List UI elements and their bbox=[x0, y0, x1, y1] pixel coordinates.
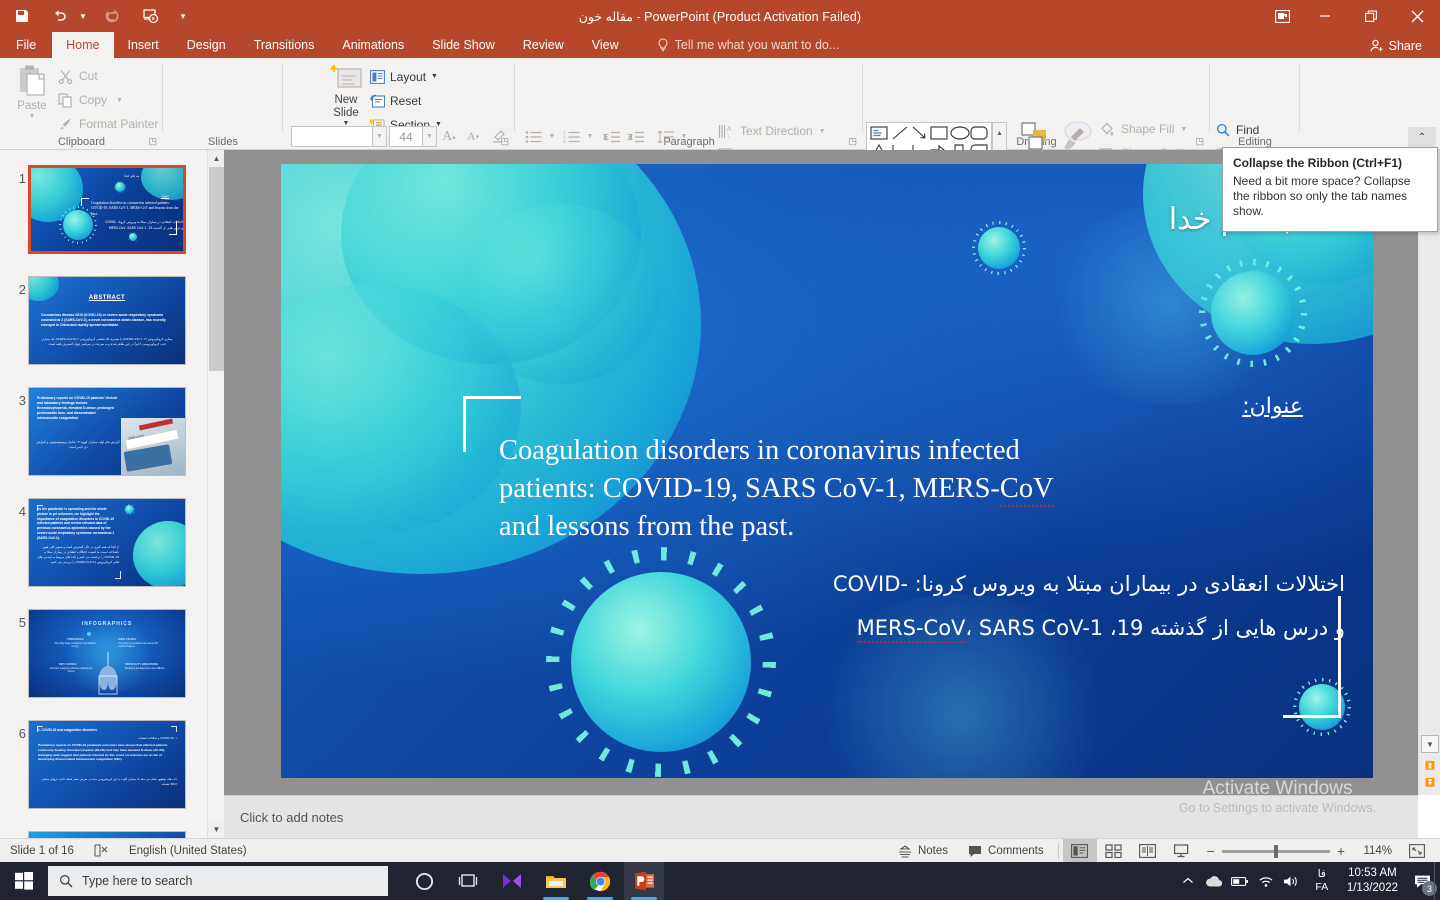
arrange-icon bbox=[1018, 120, 1052, 152]
thumbnail-slide-5[interactable]: INFOGRAPHICS TIREDNESS The body feels co… bbox=[28, 609, 186, 698]
language-code-label: FA bbox=[1305, 881, 1339, 894]
show-desktop-button[interactable] bbox=[1434, 862, 1440, 900]
restore-icon[interactable] bbox=[1348, 0, 1394, 32]
thumbnail-heading: INFOGRAPHICS bbox=[29, 621, 185, 627]
clock-time: 10:53 AM bbox=[1347, 866, 1398, 881]
list-item[interactable]: 7 bbox=[0, 831, 207, 838]
status-bar: Slide 1 of 16 English (United States) No… bbox=[0, 838, 1440, 862]
paste-label: Paste bbox=[17, 100, 46, 112]
task-view-icon[interactable] bbox=[448, 862, 488, 900]
list-item[interactable]: 1 به نام خدا عنوان: Coagulation disorder… bbox=[0, 165, 207, 265]
font-size-dropdown-icon[interactable]: ▼ bbox=[423, 126, 437, 147]
numbering-button[interactable]: 123 bbox=[560, 126, 584, 147]
cortana-icon[interactable] bbox=[404, 862, 444, 900]
volume-icon[interactable] bbox=[1279, 862, 1305, 900]
copy-label: Copy bbox=[79, 93, 107, 107]
system-tray: فا FA 10:53 AM 1/13/2022 3 bbox=[1175, 862, 1440, 900]
thumbnail-label: DIFFICULTY BREATHING bbox=[125, 662, 158, 666]
thumbnail-body: Preliminary reports on COVID-19 pandemic… bbox=[38, 743, 176, 762]
bullets-dropdown-icon[interactable]: ▼ bbox=[546, 126, 558, 147]
shape-fill-button[interactable]: Shape Fill ▼ bbox=[1099, 118, 1187, 140]
tab-review[interactable]: Review bbox=[509, 32, 578, 58]
clear-formatting-button[interactable] bbox=[488, 126, 508, 147]
paste-dropdown-icon[interactable]: ▼ bbox=[29, 113, 36, 120]
group-clipboard: Paste ▼ Cut Copy ▼ Format Pa bbox=[0, 58, 163, 150]
slide-counter[interactable]: Slide 1 of 16 bbox=[0, 839, 84, 863]
search-icon bbox=[1216, 123, 1230, 137]
list-item[interactable]: 6 1. COVID-19 and coagulation disorders … bbox=[0, 720, 207, 820]
status-bar-right: Notes Comments − bbox=[888, 839, 1440, 863]
slide-thumbnail-pane[interactable]: 1 به نام خدا عنوان: Coagulation disorder… bbox=[0, 150, 207, 838]
thumbnail-scroll-down-icon[interactable]: ▼ bbox=[208, 821, 225, 838]
svg-text:3: 3 bbox=[563, 139, 566, 144]
clipboard-group-label: Clipboard bbox=[0, 136, 163, 148]
svg-text:↕: ↕ bbox=[727, 133, 730, 139]
slide-title-farsi: اختلالات انعقادی در بیماران مبتلا به ویر… bbox=[345, 562, 1345, 650]
clock[interactable]: 10:53 AM 1/13/2022 bbox=[1339, 866, 1406, 896]
language-indicator[interactable]: English (United States) bbox=[119, 839, 257, 863]
tab-home[interactable]: Home bbox=[52, 32, 113, 58]
find-button[interactable]: Find bbox=[1216, 119, 1259, 141]
ribbon-tab-bar: File Home Insert Design Transitions Anim… bbox=[0, 32, 1440, 58]
text-direction-button[interactable]: A↕ Text Direction ▼ bbox=[718, 120, 826, 142]
view-slide-show-button[interactable] bbox=[1165, 839, 1199, 863]
tab-animations[interactable]: Animations bbox=[328, 32, 418, 58]
list-item[interactable]: 2 ABSTRACT Coronavirus disease 2019 (COV… bbox=[0, 276, 207, 376]
cut-button[interactable]: Cut bbox=[58, 65, 98, 87]
language-label: English (United States) bbox=[129, 845, 247, 857]
list-item[interactable]: 5 INFOGRAPHICS TIREDNESS The body feels … bbox=[0, 609, 207, 709]
notes-pane[interactable]: Click to add notes bbox=[224, 795, 1418, 838]
thumbnail-label: TIREDNESS bbox=[67, 637, 84, 641]
language-native-label: فا bbox=[1305, 868, 1339, 881]
tab-insert[interactable]: Insert bbox=[114, 32, 173, 58]
share-button[interactable]: Share bbox=[1360, 35, 1432, 57]
line-spacing-button[interactable] bbox=[654, 126, 678, 147]
decrease-font-size-button[interactable]: A▾ bbox=[462, 126, 484, 147]
decorative-corner-bottom-right bbox=[1283, 596, 1341, 718]
list-item[interactable]: 3 Preliminary reports on COVID-19 patien… bbox=[0, 387, 207, 487]
next-slide-icon[interactable]: ⏬ bbox=[1421, 773, 1439, 791]
scissors-icon bbox=[58, 69, 73, 84]
paste-button[interactable]: Paste ▼ bbox=[8, 64, 56, 134]
comments-button-label: Comments bbox=[988, 845, 1044, 857]
copy-button[interactable]: Copy ▼ bbox=[58, 89, 123, 111]
increase-indent-button[interactable] bbox=[624, 126, 648, 147]
text-direction-label: Text Direction bbox=[740, 124, 813, 138]
title-en-line2b: CoV bbox=[1000, 473, 1054, 507]
current-slide[interactable]: به نام خدا عنوان: Coagulation disorders … bbox=[281, 164, 1373, 778]
title-fa-line2c: ، SARS CoV-1 ،19 bbox=[965, 616, 1143, 640]
tab-file[interactable]: File bbox=[0, 32, 52, 58]
svg-text:A: A bbox=[727, 125, 732, 133]
thumbnail-number: 1 bbox=[10, 171, 26, 186]
slide-onvan-label: عنوان: bbox=[1242, 394, 1303, 419]
comments-button[interactable]: Comments bbox=[958, 839, 1054, 863]
spell-check-icon bbox=[94, 844, 109, 857]
numbering-dropdown-icon[interactable]: ▼ bbox=[584, 126, 596, 147]
file-explorer-icon[interactable] bbox=[536, 862, 576, 900]
slide-canvas-area: به نام خدا عنوان: Coagulation disorders … bbox=[224, 150, 1418, 795]
thumbnail-pane-scrollbar[interactable]: ▲ ▼ bbox=[207, 150, 224, 838]
shape-fill-dropdown-icon[interactable]: ▼ bbox=[1180, 126, 1187, 133]
movies-tv-icon[interactable] bbox=[492, 862, 532, 900]
paragraph-dialog-launcher[interactable]: ◳ bbox=[848, 136, 857, 147]
shapes-scroll-up-icon[interactable]: ▲ bbox=[993, 123, 1006, 143]
tooltip-title: Collapse the Ribbon (Ctrl+F1) bbox=[1233, 156, 1427, 170]
view-slide-sorter-button[interactable] bbox=[1097, 839, 1131, 863]
chrome-icon[interactable] bbox=[580, 862, 620, 900]
thumbnail-slide-1[interactable]: به نام خدا عنوان: Coagulation disorders … bbox=[28, 165, 186, 254]
thumbnail-caption: Breathing actually feels more difficult bbox=[125, 667, 169, 670]
paste-icon bbox=[17, 64, 47, 98]
notes-button-label: Notes bbox=[918, 845, 948, 857]
text-direction-dropdown-icon[interactable]: ▼ bbox=[819, 128, 826, 135]
zoom-level-label: 114% bbox=[1352, 845, 1392, 857]
thumbnail-number: 2 bbox=[10, 282, 26, 297]
format-painter-label: Format Painter bbox=[79, 117, 158, 131]
group-slides: New Slide ▼ Layout ▼ Reset S bbox=[163, 58, 283, 150]
collapse-ribbon-button[interactable]: ⌃ bbox=[1408, 127, 1436, 147]
collapse-ribbon-tooltip: Collapse the Ribbon (Ctrl+F1) Need a bit… bbox=[1222, 147, 1438, 232]
taskbar-pinned-apps bbox=[404, 862, 664, 900]
previous-slide-icon[interactable]: ⏫ bbox=[1421, 756, 1439, 774]
tab-slide-show[interactable]: Slide Show bbox=[418, 32, 509, 58]
lightbulb-icon bbox=[657, 38, 669, 52]
font-name-input[interactable] bbox=[291, 126, 373, 147]
text-direction-icon: A↕ bbox=[718, 124, 734, 139]
tooltip-body: Need a bit more space? Collapse the ribb… bbox=[1233, 174, 1427, 219]
input-language-indicator[interactable]: فا FA bbox=[1305, 868, 1339, 894]
thumbnail-heading: ABSTRACT bbox=[29, 295, 185, 301]
zoom-knob[interactable] bbox=[1274, 845, 1278, 858]
font-name-dropdown-icon[interactable]: ▼ bbox=[373, 126, 387, 147]
zoom-slider[interactable]: − + 114% bbox=[1199, 843, 1400, 859]
clipboard-dialog-launcher[interactable]: ◳ bbox=[148, 136, 157, 147]
tab-view[interactable]: View bbox=[578, 32, 633, 58]
zoom-out-button[interactable]: − bbox=[1207, 843, 1215, 859]
increase-font-size-button[interactable]: A▴ bbox=[438, 126, 460, 147]
bullets-button[interactable] bbox=[522, 126, 546, 147]
slide-canvas-scrollbar[interactable]: ▼ ▼ ⏫ ⏬ bbox=[1418, 150, 1440, 795]
show-hidden-icons-icon[interactable] bbox=[1175, 862, 1201, 900]
title-bar: ▼ ▾ مقاله خون - PowerPoint (Product Acti… bbox=[0, 0, 1440, 32]
clock-date: 1/13/2022 bbox=[1347, 881, 1398, 896]
taskbar-search-placeholder: Type here to search bbox=[82, 874, 192, 888]
window-controls bbox=[1262, 0, 1440, 32]
virus-particle bbox=[978, 227, 1020, 269]
notes-button[interactable]: Notes bbox=[888, 839, 958, 863]
title-en-line2a: patients: COVID-19, SARS CoV-1, MERS- bbox=[499, 473, 1000, 504]
start-button[interactable] bbox=[0, 862, 48, 900]
battery-icon[interactable] bbox=[1227, 862, 1253, 900]
view-reading-button[interactable] bbox=[1131, 839, 1165, 863]
thumbnail-scrollbar-thumb[interactable] bbox=[209, 167, 224, 371]
format-painter-button[interactable]: Format Painter bbox=[58, 113, 158, 135]
cut-label: Cut bbox=[79, 69, 98, 83]
title-fa-line2b: MERS-CoV bbox=[857, 616, 966, 643]
thumbnail-label: HIGH FEVER bbox=[118, 637, 136, 641]
thumbnail-slide-3[interactable]: Preliminary reports on COVID-19 patients… bbox=[28, 387, 186, 476]
thumbnail-caption: Constant coughing without expelling any … bbox=[49, 667, 93, 674]
thumbnail-slide-2[interactable]: ABSTRACT Coronavirus disease 2019 (COVID… bbox=[28, 276, 186, 365]
slides-group-label: Slides bbox=[163, 136, 283, 148]
font-size-input[interactable]: 44 bbox=[389, 126, 423, 147]
quick-styles-icon bbox=[1058, 120, 1094, 152]
powerpoint-window: ▼ ▾ مقاله خون - PowerPoint (Product Acti… bbox=[0, 0, 1440, 900]
close-icon[interactable] bbox=[1394, 0, 1440, 32]
comment-icon bbox=[968, 845, 982, 858]
share-person-icon bbox=[1370, 39, 1384, 53]
slide-counter-label: Slide 1 of 16 bbox=[10, 845, 74, 857]
thumbnail-label: DRY COUGH bbox=[59, 662, 77, 666]
thumbnail-number: 3 bbox=[10, 393, 26, 408]
taskbar-search-text: Type here to search bbox=[82, 874, 192, 888]
zoom-in-button[interactable]: + bbox=[1337, 843, 1345, 859]
slide-title-english: Coagulation disorders in coronavirus inf… bbox=[499, 432, 1299, 546]
tab-transitions[interactable]: Transitions bbox=[240, 32, 329, 58]
thumbnail-slide-4[interactable]: As the pandemic is spreading and the who… bbox=[28, 498, 186, 587]
thumbnail-scroll-up-icon[interactable]: ▲ bbox=[208, 150, 225, 167]
tell-me-box[interactable]: Tell me what you want to do... bbox=[647, 32, 850, 58]
thumbnail-heading: 1. COVID-19 and coagulation disorders bbox=[38, 728, 97, 732]
fit-slide-to-window-button[interactable] bbox=[1400, 839, 1434, 863]
thumbnail-body: Preliminary reports on COVID-19 patients… bbox=[37, 396, 117, 421]
ribbon-display-options-icon[interactable] bbox=[1262, 0, 1302, 32]
tell-me-label: Tell me what you want to do... bbox=[675, 38, 840, 52]
tab-design[interactable]: Design bbox=[173, 32, 240, 58]
line-spacing-dropdown-icon[interactable]: ▼ bbox=[678, 126, 690, 147]
list-item[interactable]: 4 As the pandemic is spreading and the w… bbox=[0, 498, 207, 598]
thumbnail-slide-6[interactable]: 1. COVID-19 and coagulation disorders ۱.… bbox=[28, 720, 186, 809]
share-label: Share bbox=[1389, 39, 1422, 53]
windows-logo-icon bbox=[15, 872, 33, 890]
decrease-indent-button[interactable] bbox=[600, 126, 624, 147]
zoom-track[interactable] bbox=[1222, 850, 1330, 853]
thumbnail-number: 5 bbox=[10, 615, 26, 630]
title-en-line1: Coagulation disorders in coronavirus inf… bbox=[499, 435, 1020, 466]
copy-dropdown-icon[interactable]: ▼ bbox=[116, 97, 123, 104]
title-fa-line2: و درس هایی از گذشته MERS-CoV، SARS CoV-1… bbox=[345, 606, 1345, 650]
notes-placeholder: Click to add notes bbox=[240, 810, 343, 825]
spell-check-button[interactable] bbox=[84, 839, 119, 863]
find-label: Find bbox=[1236, 123, 1259, 137]
copy-icon bbox=[58, 93, 73, 108]
view-normal-button[interactable] bbox=[1063, 839, 1097, 863]
onedrive-icon[interactable] bbox=[1201, 862, 1227, 900]
notes-icon bbox=[898, 845, 912, 858]
shape-fill-label: Shape Fill bbox=[1121, 122, 1174, 136]
thumbnail-number: 6 bbox=[10, 726, 26, 741]
shape-fill-icon bbox=[1099, 122, 1115, 137]
paintbrush-icon bbox=[58, 117, 73, 132]
title-fa-line1: اختلالات انعقادی در بیماران مبتلا به ویر… bbox=[345, 562, 1345, 606]
chevron-up-icon: ⌃ bbox=[1418, 132, 1426, 143]
ribbon: Paste ▼ Cut Copy ▼ Format Pa bbox=[0, 58, 1440, 150]
taskbar-search-box[interactable]: Type here to search bbox=[48, 866, 388, 896]
window-title: مقاله خون - PowerPoint (Product Activati… bbox=[0, 0, 1440, 32]
thumbnail-number: 4 bbox=[10, 504, 26, 519]
thumbnail-body: Coronavirus disease 2019 (COVID-19) or s… bbox=[41, 313, 173, 328]
title-en-line3: and lessons from the past. bbox=[499, 511, 794, 542]
wifi-icon[interactable] bbox=[1253, 862, 1279, 900]
thumbnail-body: As the pandemic is spreading and the who… bbox=[37, 507, 115, 541]
lungs-icon bbox=[91, 646, 125, 696]
minimize-icon[interactable] bbox=[1302, 0, 1348, 32]
previous-slide-button[interactable]: ▼ bbox=[1421, 735, 1439, 753]
thumbnail-slide-7[interactable] bbox=[28, 831, 186, 838]
thumbnail-caption: The body temperature can exceed 38 Celsi… bbox=[118, 642, 166, 649]
search-icon bbox=[59, 874, 73, 888]
windows-taskbar: Type here to search bbox=[0, 862, 1440, 900]
powerpoint-icon[interactable] bbox=[624, 862, 664, 900]
